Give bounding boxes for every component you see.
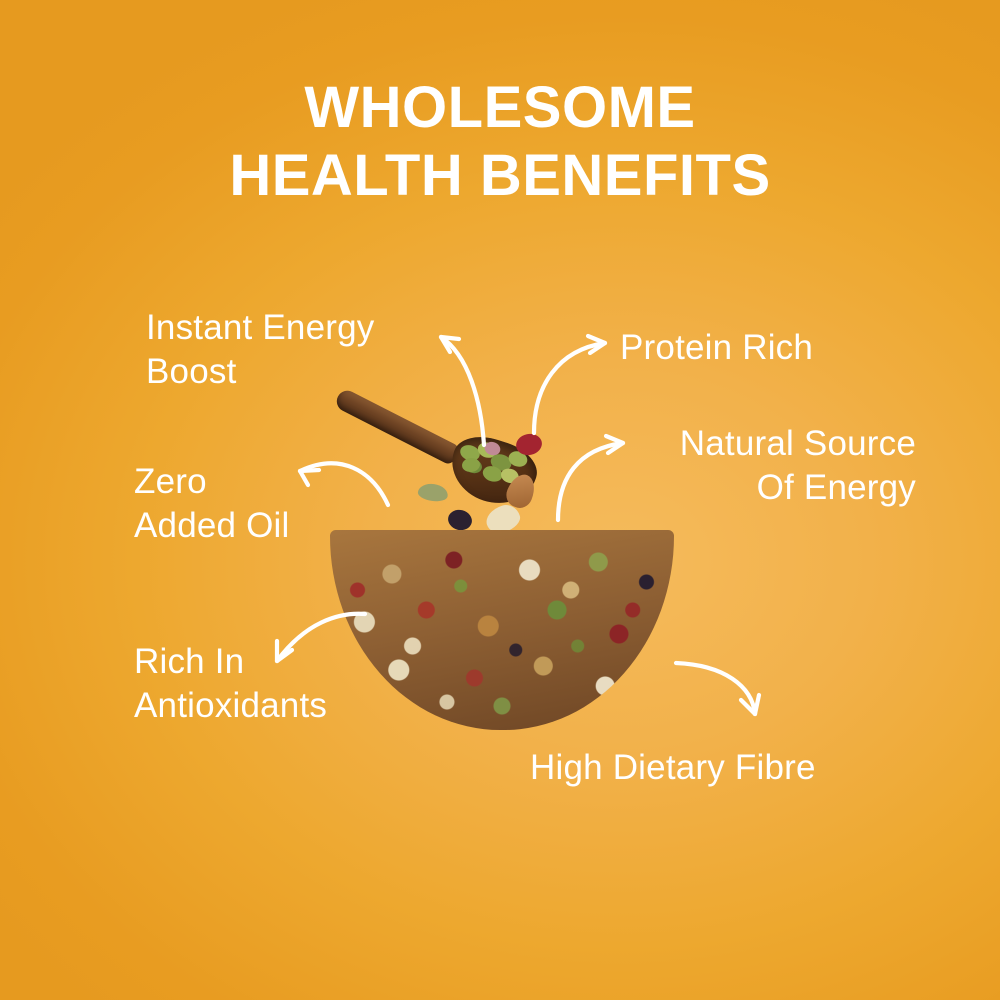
poster: WHOLESOME HEALTH BENEFITS [0, 0, 1000, 1000]
benefit-label-high-dietary-fibre: High Dietary Fibre [530, 746, 816, 790]
benefit-label-zero-added-oil: Zero Added Oil [134, 460, 290, 549]
benefit-label-instant-energy-boost: Instant Energy Boost [146, 306, 375, 395]
benefit-label-protein-rich: Protein Rich [620, 326, 813, 370]
benefit-label-line-2: Boost [146, 350, 375, 394]
benefit-label-line-2: Antioxidants [134, 684, 327, 728]
wooden-spoon-handle-icon [333, 387, 460, 466]
benefit-label-line-1: Zero [134, 460, 290, 504]
benefit-label-line-1: Protein Rich [620, 326, 813, 370]
benefit-label-rich-in-antioxidants: Rich In Antioxidants [134, 640, 327, 729]
benefit-label-natural-source-of-energy: Natural Source Of Energy [680, 422, 916, 511]
benefit-label-line-1: Rich In [134, 640, 327, 684]
falling-black-raisin [446, 507, 474, 532]
benefit-label-line-1: Natural Source [680, 422, 916, 466]
benefit-label-line-1: High Dietary Fibre [530, 746, 816, 790]
falling-cardamom [417, 482, 449, 503]
benefit-label-line-2: Added Oil [134, 504, 290, 548]
benefit-label-line-1: Instant Energy [146, 306, 375, 350]
benefit-label-line-2: Of Energy [680, 466, 916, 510]
trail-mix-bowl [330, 530, 674, 730]
